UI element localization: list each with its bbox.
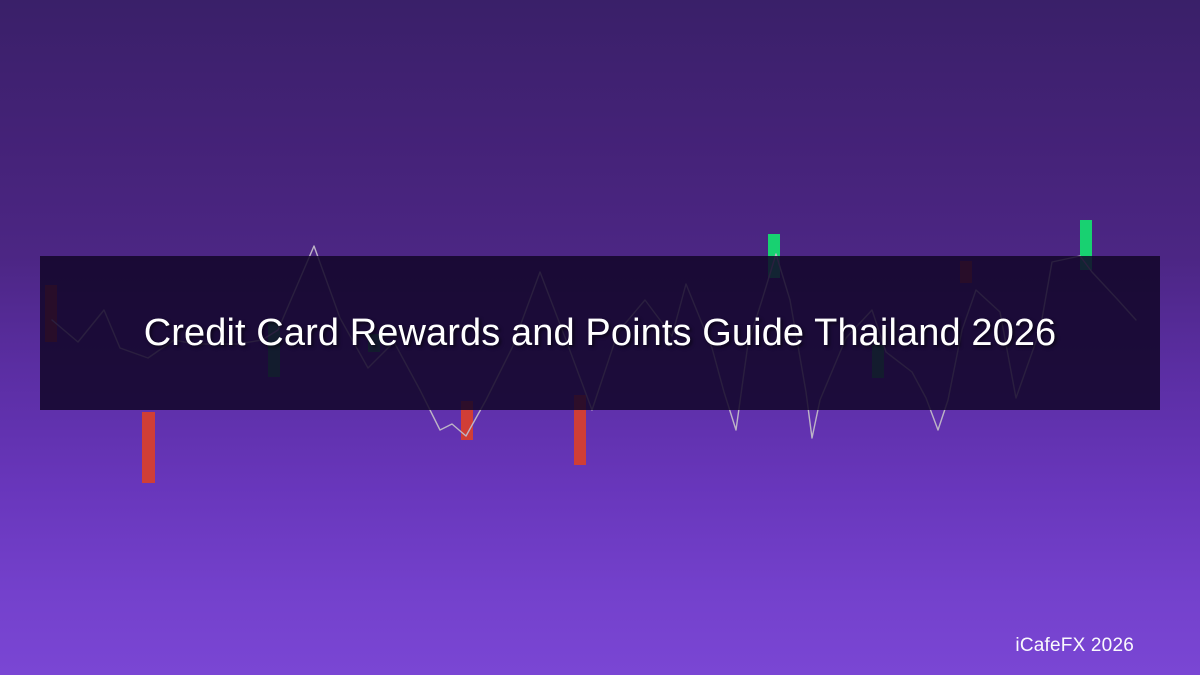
watermark-label: iCafeFX 2026 [1015,635,1134,657]
page-title: Credit Card Rewards and Points Guide Tha… [40,256,1160,410]
candle-down [142,412,155,483]
poster-canvas: Credit Card Rewards and Points Guide Tha… [0,0,1200,675]
